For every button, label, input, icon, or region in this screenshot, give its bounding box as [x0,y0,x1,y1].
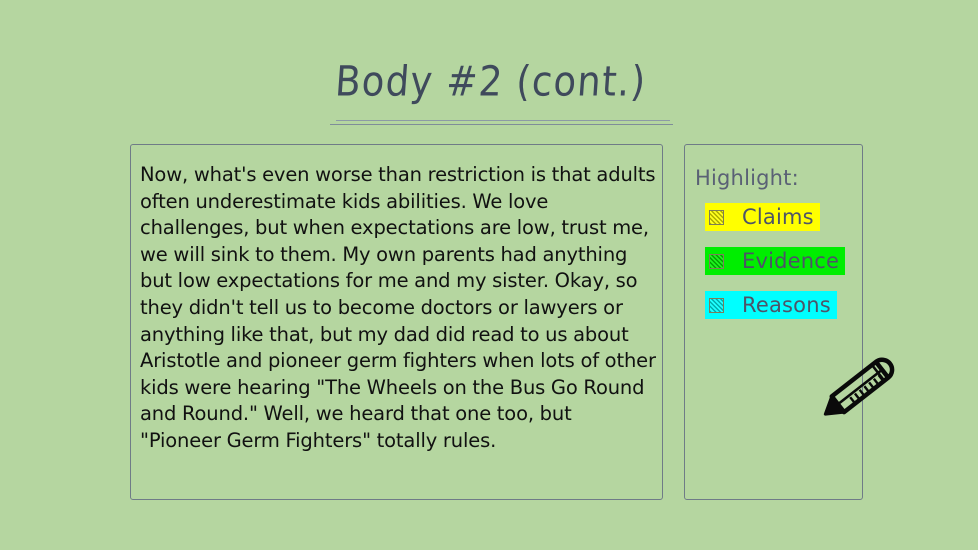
body-text-panel: Now, what's even worse than restriction … [130,144,663,500]
page-title: Body #2 (cont.) [0,56,978,108]
pencil-icon [810,345,910,429]
legend-label-claims: Claims [742,204,814,230]
hatched-square-icon [709,210,724,225]
title-divider [330,118,673,128]
hatched-square-icon [709,254,724,269]
slide-canvas: Body #2 (cont.) Now, what's even worse t… [0,0,978,550]
legend-item-evidence[interactable]: Evidence [705,247,845,275]
body-paragraph: Now, what's even worse than restriction … [140,162,658,455]
legend-label-reasons: Reasons [742,292,831,318]
title-divider-line-top [336,120,670,121]
highlight-legend-panel: Highlight: Claims Evidence Reasons [684,144,863,500]
legend-item-reasons[interactable]: Reasons [705,291,837,319]
title-divider-line-bottom [330,124,673,125]
legend-item-claims[interactable]: Claims [705,203,820,231]
title-block: Body #2 (cont.) [0,62,978,108]
hatched-square-icon [709,298,724,313]
highlight-legend-title: Highlight: [695,165,799,191]
legend-label-evidence: Evidence [742,248,839,274]
